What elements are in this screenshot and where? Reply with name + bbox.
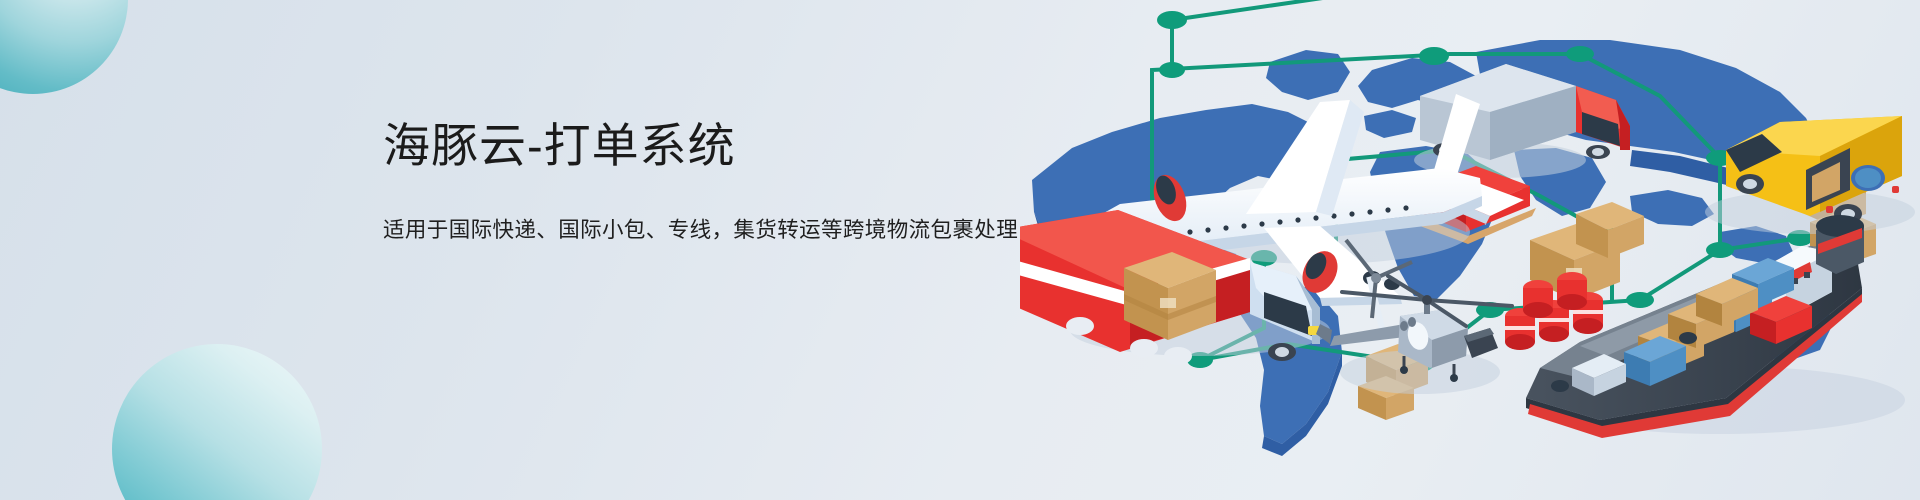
map-europe-south	[1364, 110, 1416, 138]
hero-banner: 海豚云-打单系统 适用于国际快递、国际小包、专线，集货转运等跨境物流包裹处理	[0, 0, 1920, 500]
page-title: 海豚云-打单系统	[383, 118, 1018, 173]
banner-text-block: 海豚云-打单系统 适用于国际快递、国际小包、专线，集货转运等跨境物流包裹处理	[383, 118, 1018, 246]
network-node	[1157, 11, 1187, 29]
decorative-circle-top-left	[0, 0, 128, 94]
isometric-global-logistics-illustration	[1020, 0, 1920, 500]
helicopter	[1316, 276, 1512, 394]
semi-truck-wheel	[1164, 347, 1192, 365]
map-greenland	[1266, 50, 1350, 100]
semi-truck-wheel	[1130, 339, 1158, 357]
page-subtitle: 适用于国际快递、国际小包、专线，集货转运等跨境物流包裹处理	[383, 215, 1018, 245]
network-node	[1626, 292, 1654, 308]
network-node	[1566, 46, 1594, 62]
network-node	[1419, 47, 1449, 65]
barrel	[1557, 272, 1587, 310]
semi-truck-wheel	[1066, 317, 1094, 335]
decorative-circle-bottom-left	[112, 344, 322, 500]
barrel	[1523, 280, 1553, 318]
network-node	[1159, 62, 1185, 78]
network-node	[1706, 242, 1734, 258]
